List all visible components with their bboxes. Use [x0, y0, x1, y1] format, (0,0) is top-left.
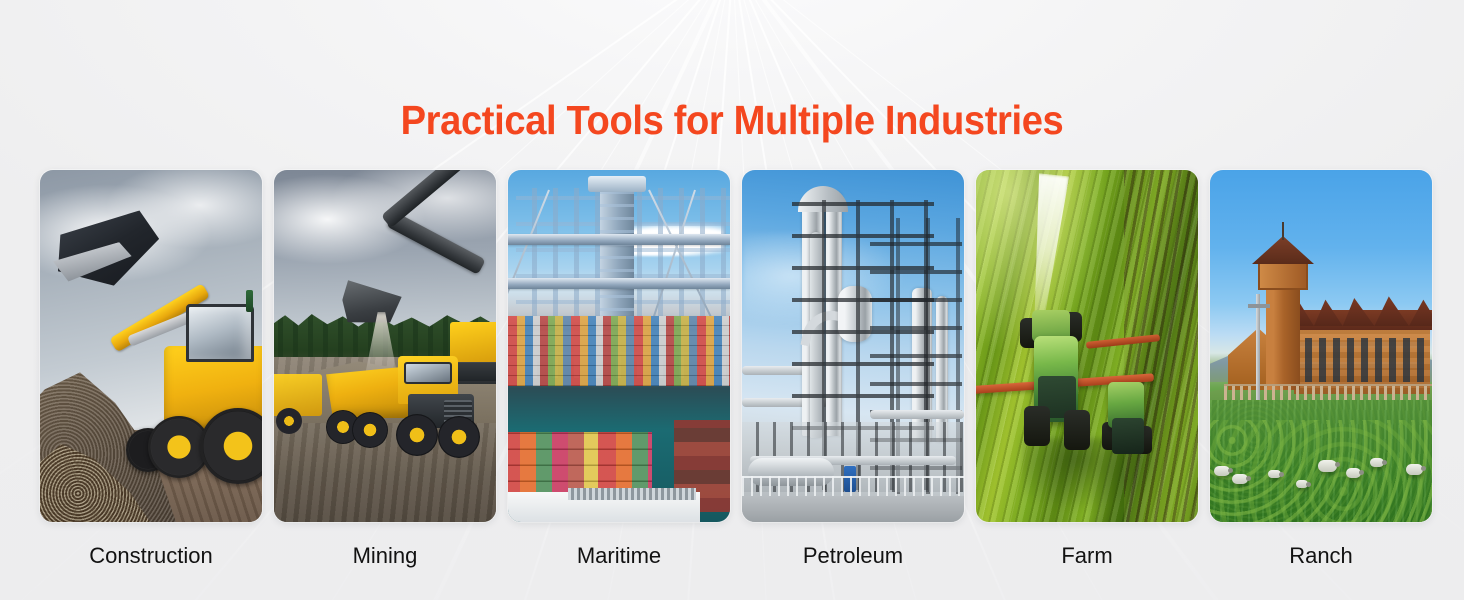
industry-card-construction[interactable]: Construction — [40, 170, 262, 570]
ranch-house-icon — [1210, 170, 1432, 522]
page-title: Practical Tools for Multiple Industries — [51, 96, 1413, 144]
industry-image-ranch[interactable] — [1210, 170, 1432, 522]
industry-card-farm[interactable]: Farm — [976, 170, 1198, 570]
industry-card-ranch[interactable]: Ranch — [1210, 170, 1432, 570]
industry-card-petroleum[interactable]: Petroleum — [742, 170, 964, 570]
industry-card-maritime[interactable]: Maritime — [508, 170, 730, 570]
industry-image-maritime[interactable] — [508, 170, 730, 522]
industry-label: Maritime — [577, 542, 661, 570]
industry-card-mining[interactable]: Mining — [274, 170, 496, 570]
refinery-icon — [742, 170, 964, 522]
industry-label: Farm — [1061, 542, 1112, 570]
dump-truck-icon — [274, 170, 496, 522]
industry-label: Ranch — [1289, 542, 1353, 570]
wheel-loader-icon — [40, 170, 262, 522]
industry-image-mining[interactable] — [274, 170, 496, 522]
tractor-icon — [976, 170, 1198, 522]
industry-image-petroleum[interactable] — [742, 170, 964, 522]
container-ship-icon — [508, 170, 730, 522]
industry-image-farm[interactable] — [976, 170, 1198, 522]
industry-card-strip: Construction — [40, 170, 1424, 570]
industry-label: Mining — [353, 542, 418, 570]
industry-label: Construction — [89, 542, 213, 570]
industry-label: Petroleum — [803, 542, 903, 570]
industry-image-construction[interactable] — [40, 170, 262, 522]
